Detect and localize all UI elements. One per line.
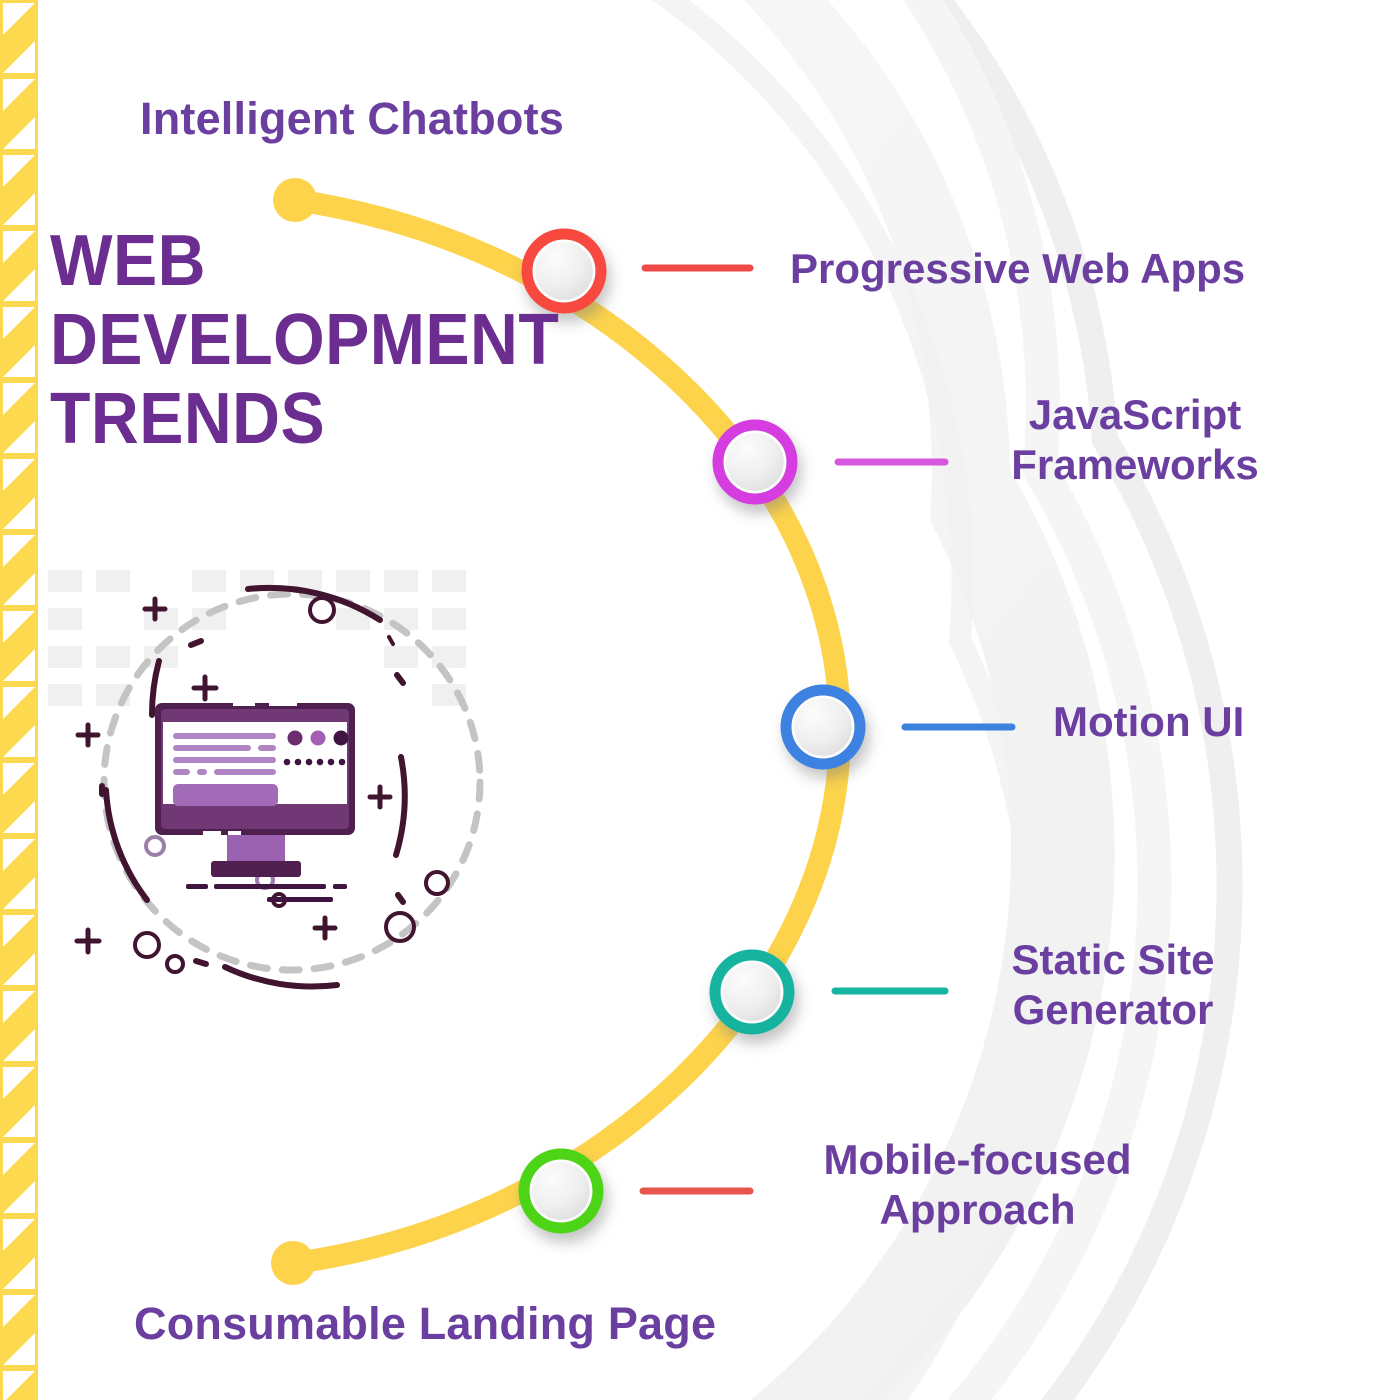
label-progressive-web-apps: Progressive Web Apps bbox=[790, 245, 1245, 292]
infographic-poster: WEB DEVELOPMENT TRENDS Intelligent Chatb… bbox=[0, 0, 1400, 1400]
title-line-1: WEB bbox=[50, 222, 620, 301]
label-static-site-generator: Static Site Generator bbox=[988, 935, 1238, 1034]
node-static-site-generator bbox=[715, 955, 789, 1029]
label-static-site-generator-line1: Static Site bbox=[988, 935, 1238, 985]
label-intelligent-chatbots: Intelligent Chatbots bbox=[140, 93, 564, 145]
label-mobile-focused-approach: Mobile-focused Approach bbox=[790, 1135, 1165, 1234]
label-javascript-frameworks-line2: Frameworks bbox=[985, 440, 1285, 490]
node-motion-ui bbox=[786, 690, 860, 764]
label-javascript-frameworks: JavaScript Frameworks bbox=[985, 390, 1285, 489]
endpoint-dot-bottom bbox=[271, 1241, 315, 1285]
label-motion-ui: Motion UI bbox=[1053, 698, 1244, 745]
left-zigzag-border bbox=[0, 0, 38, 1400]
page-title: WEB DEVELOPMENT TRENDS bbox=[50, 222, 670, 460]
label-mobile-focused-approach-line1: Mobile-focused bbox=[790, 1135, 1165, 1185]
node-javascript-frameworks bbox=[718, 425, 792, 499]
label-static-site-generator-line2: Generator bbox=[988, 985, 1238, 1035]
label-javascript-frameworks-line1: JavaScript bbox=[985, 390, 1285, 440]
title-line-3: TRENDS bbox=[50, 380, 620, 459]
label-mobile-focused-approach-line2: Approach bbox=[790, 1185, 1165, 1235]
label-consumable-landing-page: Consumable Landing Page bbox=[134, 1298, 716, 1350]
node-mobile-focused-approach bbox=[524, 1154, 598, 1228]
endpoint-dot-top bbox=[273, 178, 317, 222]
title-line-2: DEVELOPMENT bbox=[50, 301, 620, 380]
